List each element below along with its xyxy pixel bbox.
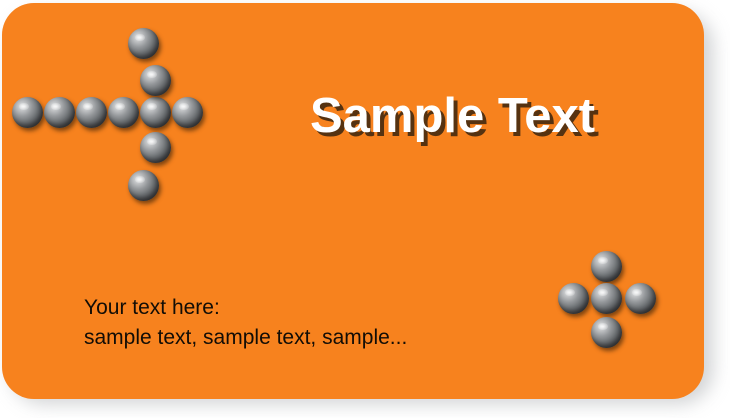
body-copy-line-1: Your text here: bbox=[84, 293, 407, 323]
arrow-head-upper-in-sphere-icon bbox=[140, 65, 171, 96]
diamond-right-sphere-icon bbox=[625, 283, 656, 314]
arrow-head-upper-out-sphere-icon bbox=[128, 28, 159, 59]
diamond-left-sphere-icon bbox=[558, 283, 589, 314]
arrow-head-lower-in-sphere-icon bbox=[140, 132, 171, 163]
arrow-shaft-5-sphere-icon bbox=[140, 97, 171, 128]
diamond-bottom-sphere-icon bbox=[591, 317, 622, 348]
arrow-tail-1-sphere-icon bbox=[12, 97, 43, 128]
slide-canvas: Sample Text Your text here: sample text,… bbox=[0, 0, 730, 418]
diamond-top-sphere-icon bbox=[591, 251, 622, 282]
arrow-head-lower-out-sphere-icon bbox=[128, 170, 159, 201]
body-copy-line-2: sample text, sample text, sample... bbox=[84, 323, 407, 353]
body-copy: Your text here: sample text, sample text… bbox=[84, 293, 407, 353]
diamond-center-sphere-icon bbox=[591, 283, 622, 314]
arrow-tail-3-sphere-icon bbox=[76, 97, 107, 128]
arrow-shaft-4-sphere-icon bbox=[108, 97, 139, 128]
page-title: Sample Text bbox=[310, 88, 595, 144]
arrow-tail-2-sphere-icon bbox=[44, 97, 75, 128]
arrow-tip-sphere-icon bbox=[172, 97, 203, 128]
